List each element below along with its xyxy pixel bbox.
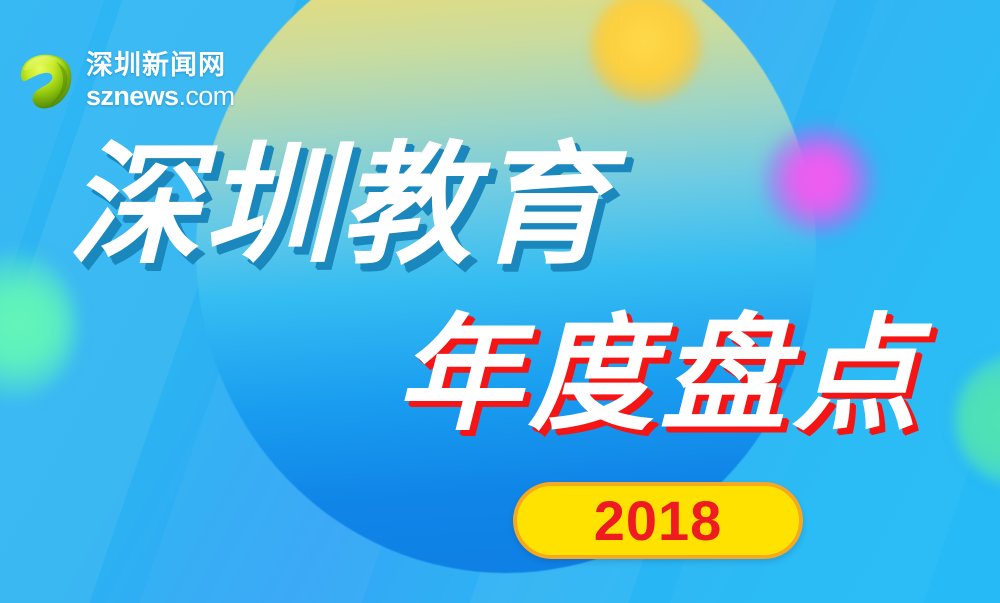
yellow-glow-circle [590,0,702,104]
headline-line-1: 深圳教育 [68,140,612,272]
logo-domain-name: sznews [86,81,178,111]
site-logo[interactable]: 深圳新闻网 sznews.com [12,48,235,114]
logo-chinese-name: 深圳新闻网 [86,52,235,79]
year-badge-label: 2018 [594,493,723,549]
headline-line-2: 年度盘点 [396,312,924,438]
logo-domain: sznews.com [86,83,235,110]
year-badge: 2018 [513,482,803,559]
green-glow-circle-right [955,355,1000,485]
logo-wordmark: 深圳新闻网 sznews.com [86,52,235,110]
sznews-leaf-logo-icon [12,48,78,114]
green-glow-circle-left [0,250,76,400]
purple-glow-circle [760,124,878,236]
promo-banner: 深圳新闻网 sznews.com 深圳教育 年度盘点 2018 [0,0,1000,603]
logo-domain-tld: .com [178,81,234,111]
